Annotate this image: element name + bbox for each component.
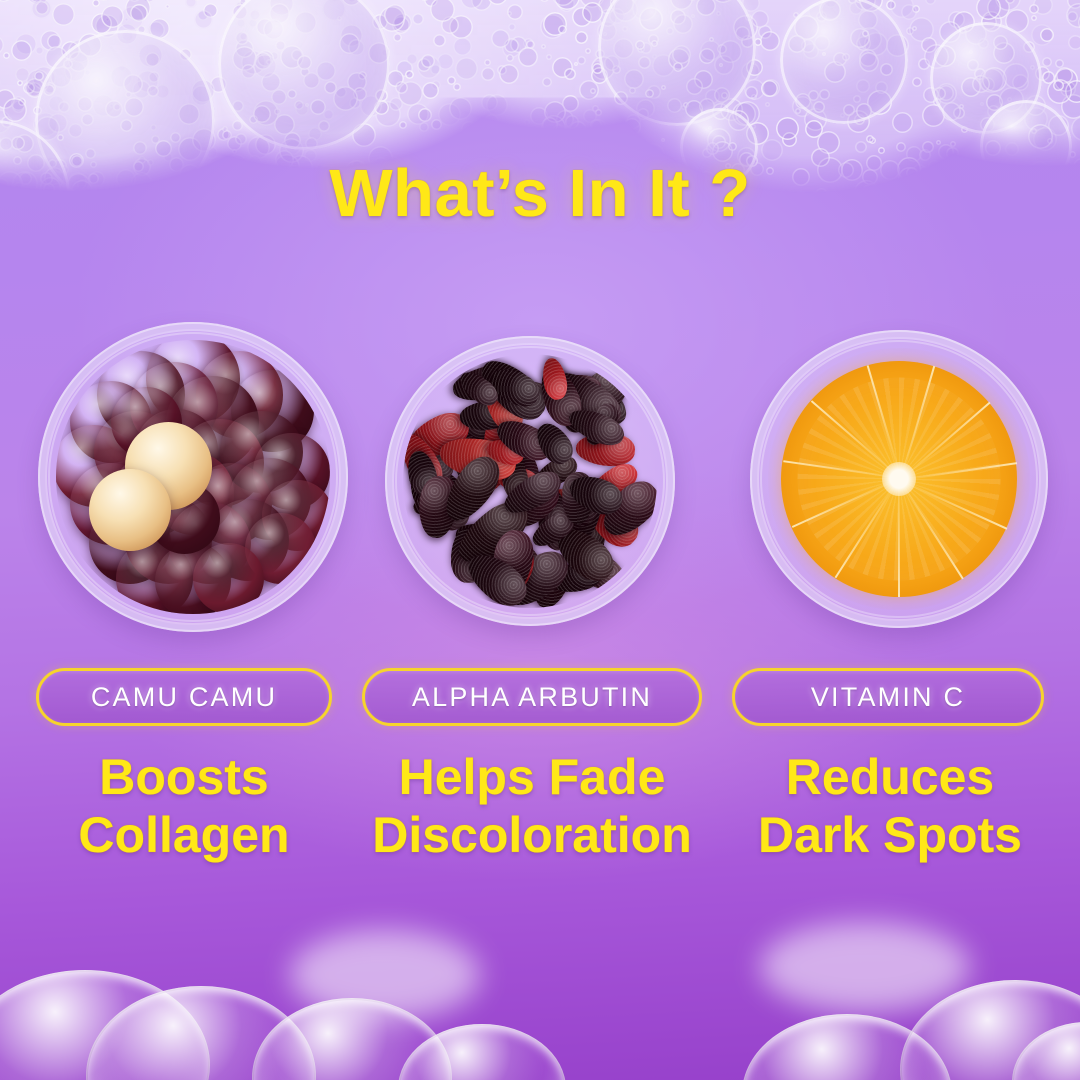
mulberries — [403, 354, 657, 608]
pill-label: ALPHA ARBUTIN — [412, 682, 652, 713]
benefit-line-1: Helps Fade — [352, 748, 712, 806]
benefit-line-2: Discoloration — [352, 806, 712, 864]
orange-slice — [768, 348, 1030, 610]
ingredient-poster: What’s In It ? CAMU CAMU — [0, 0, 1080, 1080]
berry-pale — [89, 469, 171, 551]
benefit-vitamin-c: Reduces Dark Spots — [716, 748, 1064, 864]
pill-label: CAMU CAMU — [91, 682, 277, 713]
orange-core — [882, 462, 916, 496]
orange-bowl — [750, 330, 1048, 628]
benefit-row: Boosts Collagen Helps Fade Discoloration… — [0, 748, 1080, 878]
foam-large-bubble — [780, 0, 908, 124]
pill-alpha-arbutin[interactable]: ALPHA ARBUTIN — [362, 668, 702, 726]
pill-label: VITAMIN C — [811, 682, 965, 713]
ingredient-pill-row: CAMU CAMU ALPHA ARBUTIN VITAMIN C — [0, 668, 1080, 726]
mulberry-bowl — [385, 336, 675, 626]
orange-slice-fruit — [781, 361, 1017, 597]
page-title: What’s In It ? — [0, 155, 1080, 232]
camu-camu-bowl — [38, 322, 348, 632]
benefit-line-2: Dark Spots — [716, 806, 1064, 864]
ingredient-images-row — [0, 322, 1080, 632]
benefit-line-2: Collagen — [14, 806, 354, 864]
benefit-alpha-arbutin: Helps Fade Discoloration — [352, 748, 712, 864]
camu-camu-berries — [56, 340, 330, 614]
bottom-foam-decoration — [0, 936, 1080, 1080]
pill-vitamin-c[interactable]: VITAMIN C — [732, 668, 1044, 726]
berry — [193, 543, 264, 614]
benefit-line-1: Boosts — [14, 748, 354, 806]
benefit-line-1: Reduces — [716, 748, 1064, 806]
pill-camu-camu[interactable]: CAMU CAMU — [36, 668, 332, 726]
benefit-camu-camu: Boosts Collagen — [14, 748, 354, 864]
foam-haze — [760, 922, 970, 1012]
